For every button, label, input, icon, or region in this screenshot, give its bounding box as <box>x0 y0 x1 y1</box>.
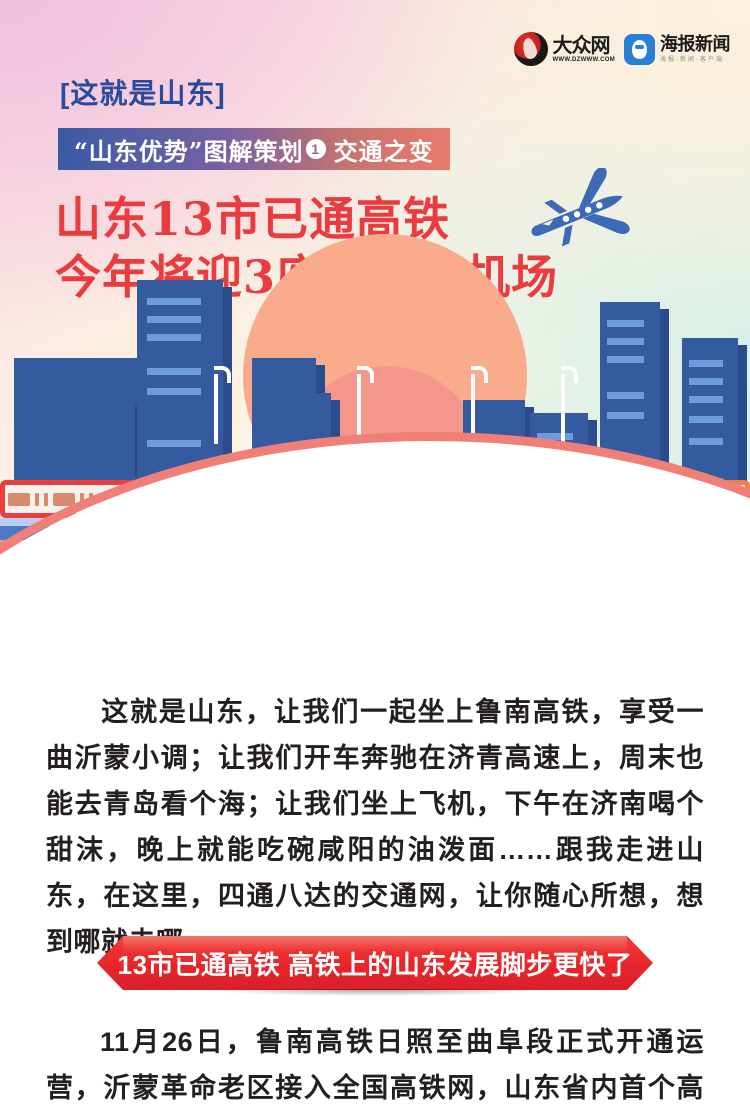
hero-section: 大众网 WWW.DZWWW.COM 海报新闻 海报·新闻·客户端 [这就是山东]… <box>0 0 750 640</box>
section-banner: 13市已通高铁 高铁上的山东发展脚步更快了 <box>97 936 653 990</box>
kicker-title: [这就是山东] <box>60 72 226 112</box>
haibao-sub: 海报·新闻·客户端 <box>660 57 730 63</box>
street-lamp <box>64 366 86 444</box>
dzwww-logo[interactable]: 大众网 WWW.DZWWW.COM <box>514 32 615 66</box>
airplane-icon <box>520 168 640 254</box>
haibao-seal-logo-icon <box>624 34 655 65</box>
brand-logos: 大众网 WWW.DZWWW.COM 海报新闻 海报·新闻·客户端 <box>514 32 730 66</box>
street-lamp <box>348 366 370 444</box>
paragraph-news-text: 11月26日，鲁南高铁日照至曲阜段正式开通运营，沂蒙革命老区接入全国高铁网，山东… <box>46 1027 704 1112</box>
infographic-page: 大众网 WWW.DZWWW.COM 海报新闻 海报·新闻·客户端 [这就是山东]… <box>0 0 750 1112</box>
paragraph-intro: 这就是山东，让我们一起坐上鲁南高铁，享受一曲沂蒙小调；让我们开车奔驰在济青高速上… <box>46 689 704 965</box>
ribbon-number-badge: 1 <box>306 139 326 159</box>
section-banner-text: 13市已通高铁 高铁上的山东发展脚步更快了 <box>97 936 653 990</box>
dzwww-url: WWW.DZWWW.COM <box>552 57 615 63</box>
article-body: 这就是山东，让我们一起坐上鲁南高铁，享受一曲沂蒙小调；让我们开车奔驰在济青高速上… <box>0 640 750 1112</box>
street-lamp <box>205 366 227 444</box>
haibao-name: 海报新闻 <box>660 36 730 54</box>
dzwww-name: 大众网 <box>552 35 615 55</box>
paragraph-intro-text: 这就是山东，让我们一起坐上鲁南高铁，享受一曲沂蒙小调；让我们开车奔驰在济青高速上… <box>46 697 704 957</box>
cityscape-illustration <box>0 280 750 640</box>
paragraph-news: 11月26日，鲁南高铁日照至曲阜段正式开通运营，沂蒙革命老区接入全国高铁网，山东… <box>46 1019 704 1112</box>
street-lamp <box>552 366 574 444</box>
ribbon-right-text: 交通之变 <box>334 132 434 167</box>
series-ribbon: “山东优势”图解策划 1 交通之变 <box>58 128 450 170</box>
ribbon-left-text: “山东优势”图解策划 <box>74 132 304 167</box>
haibao-logo[interactable]: 海报新闻 海报·新闻·客户端 <box>624 34 730 65</box>
dzwww-flame-logo-icon <box>514 32 548 66</box>
